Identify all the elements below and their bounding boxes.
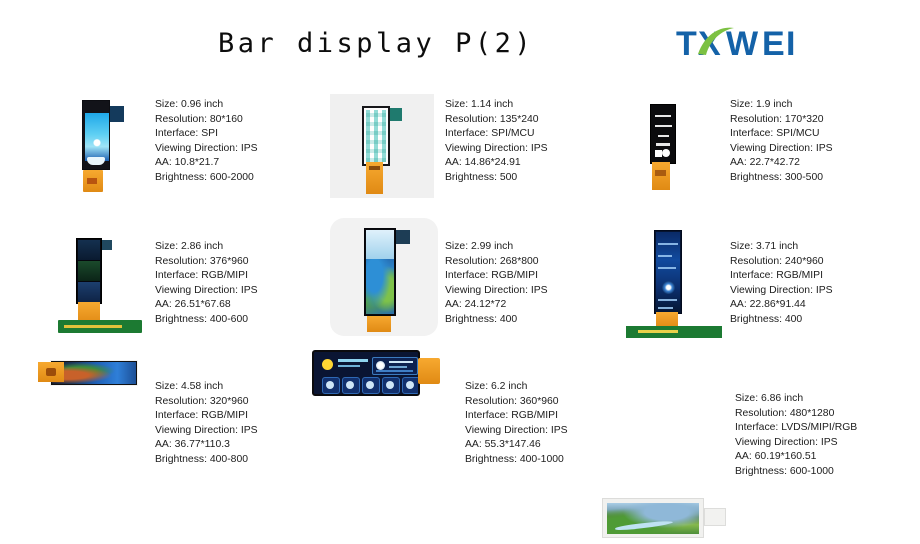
product-specs-7: Size: 4.58 inch Resolution: 320*960 Inte… xyxy=(155,380,258,468)
product-image-4 xyxy=(52,224,152,342)
spec-resolution-4: Resolution: 376*960 xyxy=(155,255,258,270)
product-grid: Size: 0.96 inch Resolution: 80*160 Inter… xyxy=(0,88,920,517)
screen-row-b xyxy=(658,255,672,257)
spec-size-2: Size: 1.14 inch xyxy=(445,98,548,113)
product-specs-1: Size: 0.96 inch Resolution: 80*160 Inter… xyxy=(155,98,258,186)
spec-brightness-9: Brightness: 600-1000 xyxy=(735,465,857,480)
spec-size-9: Size: 6.86 inch xyxy=(735,392,857,407)
spec-aa-5: AA: 24.12*72 xyxy=(445,298,548,313)
display-screen-2 xyxy=(362,106,390,166)
media-player-widget xyxy=(372,357,418,375)
flex-cable-8 xyxy=(418,358,440,384)
spec-viewing-7: Viewing Direction: IPS xyxy=(155,424,258,439)
spec-aa-2: AA: 14.86*24.91 xyxy=(445,156,548,171)
logo-letter-e: E xyxy=(762,25,785,63)
driver-chip-7 xyxy=(46,368,56,376)
spec-size-4: Size: 2.86 inch xyxy=(155,240,258,255)
track-title-text xyxy=(389,361,413,363)
progress-bar xyxy=(376,370,413,372)
driver-chip-1 xyxy=(87,178,97,184)
spec-viewing-8: Viewing Direction: IPS xyxy=(465,424,568,439)
spec-brightness-6: Brightness: 400 xyxy=(730,313,833,328)
product-image-8 xyxy=(300,344,448,404)
screen-square-indicator xyxy=(655,150,662,157)
driver-chip-3 xyxy=(655,170,666,176)
logo-letter-i: I xyxy=(786,25,795,63)
spec-aa-6: AA: 22.86*91.44 xyxy=(730,298,833,313)
spec-brightness-8: Brightness: 400-1000 xyxy=(465,453,568,468)
flex-cable-9 xyxy=(704,508,726,526)
display-tab-2 xyxy=(390,108,402,121)
txwei-logo-svg: T X W E I xyxy=(676,24,836,66)
logo-letter-w: W xyxy=(726,25,759,63)
spec-size-6: Size: 3.71 inch xyxy=(730,240,833,255)
spec-viewing-4: Viewing Direction: IPS xyxy=(155,284,258,299)
spec-resolution-1: Resolution: 80*160 xyxy=(155,113,258,128)
spec-resolution-8: Resolution: 360*960 xyxy=(465,395,568,410)
spec-interface-2: Interface: SPI/MCU xyxy=(445,127,548,142)
product-specs-5: Size: 2.99 inch Resolution: 268*800 Inte… xyxy=(445,240,548,328)
spec-viewing-5: Viewing Direction: IPS xyxy=(445,284,548,299)
spec-brightness-3: Brightness: 300-500 xyxy=(730,171,833,186)
spec-interface-9: Interface: LVDS/MIPI/RGB xyxy=(735,421,857,436)
spec-viewing-3: Viewing Direction: IPS xyxy=(730,142,833,157)
spec-viewing-1: Viewing Direction: IPS xyxy=(155,142,258,157)
spec-brightness-1: Brightness: 600-2000 xyxy=(155,171,258,186)
screen-text-line-b xyxy=(655,125,672,127)
spec-resolution-6: Resolution: 240*960 xyxy=(730,255,833,270)
screen-row-d xyxy=(658,299,677,301)
screen-circle-indicator xyxy=(662,149,670,157)
product-specs-3: Size: 1.9 inch Resolution: 170*320 Inter… xyxy=(730,98,833,186)
screen-row-c xyxy=(658,267,676,269)
screen-river-graphic xyxy=(615,519,673,531)
display-tab-1 xyxy=(110,106,124,122)
spec-size-8: Size: 6.2 inch xyxy=(465,380,568,395)
txwei-logo: T X W E I xyxy=(676,24,836,66)
page-title: Bar display P(2) xyxy=(218,28,534,59)
screen-row-a xyxy=(658,243,678,245)
product-image-3 xyxy=(624,94,720,198)
product-image-6 xyxy=(622,218,732,338)
product-specs-9: Size: 6.86 inch Resolution: 480*1280 Int… xyxy=(735,392,857,480)
screen-text-line-d xyxy=(656,143,670,146)
display-screen-5 xyxy=(364,228,396,316)
display-screen-3 xyxy=(650,104,676,164)
spec-viewing-9: Viewing Direction: IPS xyxy=(735,436,857,451)
spec-resolution-5: Resolution: 268*800 xyxy=(445,255,548,270)
spec-brightness-5: Brightness: 400 xyxy=(445,313,548,328)
product-image-1 xyxy=(60,96,144,198)
spec-interface-6: Interface: RGB/MIPI xyxy=(730,269,833,284)
spec-brightness-7: Brightness: 400-800 xyxy=(155,453,258,468)
screen-disc-icon xyxy=(662,281,675,294)
app-icon-navigation xyxy=(322,377,340,394)
product-image-9 xyxy=(598,494,728,544)
spec-resolution-7: Resolution: 320*960 xyxy=(155,395,258,410)
app-icon-seat xyxy=(362,377,380,394)
display-screen-9 xyxy=(602,498,704,538)
spec-resolution-2: Resolution: 135*240 xyxy=(445,113,548,128)
app-icon-climate xyxy=(382,377,400,394)
display-tab-4 xyxy=(102,240,112,250)
spec-aa-8: AA: 55.3*147.46 xyxy=(465,438,568,453)
spec-size-7: Size: 4.58 inch xyxy=(155,380,258,395)
screen-segment-c xyxy=(78,282,100,303)
display-screen-8 xyxy=(312,350,420,396)
screen-segment-b xyxy=(78,261,100,281)
screen-content-9 xyxy=(607,503,699,534)
pcb-connector-6 xyxy=(638,330,678,333)
spec-viewing-2: Viewing Direction: IPS xyxy=(445,142,548,157)
product-image-2 xyxy=(330,94,434,198)
screen-segment-a xyxy=(78,240,100,260)
page-header: Bar display P(2) T X W E I xyxy=(0,0,920,88)
spec-interface-7: Interface: RGB/MIPI xyxy=(155,409,258,424)
screen-content-7 xyxy=(52,362,136,384)
display-screen-1 xyxy=(82,100,110,170)
spec-size-3: Size: 1.9 inch xyxy=(730,98,833,113)
display-screen-4 xyxy=(76,238,102,304)
screen-content-5 xyxy=(366,259,394,314)
screen-content-2 xyxy=(366,110,386,162)
spec-brightness-2: Brightness: 500 xyxy=(445,171,548,186)
spec-aa-9: AA: 60.19*160.51 xyxy=(735,450,857,465)
spec-size-1: Size: 0.96 inch xyxy=(155,98,258,113)
pcb-connector-4 xyxy=(64,325,122,328)
spec-size-5: Size: 2.99 inch xyxy=(445,240,548,255)
display-tab-5 xyxy=(396,230,410,244)
weather-sun-icon xyxy=(322,359,333,370)
product-image-7 xyxy=(24,346,142,402)
spec-interface-3: Interface: SPI/MCU xyxy=(730,127,833,142)
screen-text-line-c xyxy=(658,135,669,137)
weather-temp-text xyxy=(338,359,368,362)
product-specs-2: Size: 1.14 inch Resolution: 135*240 Inte… xyxy=(445,98,548,186)
screen-text-line-a xyxy=(655,115,671,117)
screen-row-e xyxy=(658,307,673,309)
product-image-5 xyxy=(330,218,438,336)
product-specs-4: Size: 2.86 inch Resolution: 376*960 Inte… xyxy=(155,240,258,328)
spec-interface-1: Interface: SPI xyxy=(155,127,258,142)
app-icon-music xyxy=(342,377,360,394)
product-specs-6: Size: 3.71 inch Resolution: 240*960 Inte… xyxy=(730,240,833,328)
display-screen-6 xyxy=(654,230,682,314)
spec-interface-4: Interface: RGB/MIPI xyxy=(155,269,258,284)
screen-graphic-1 xyxy=(87,157,105,165)
spec-resolution-3: Resolution: 170*320 xyxy=(730,113,833,128)
weather-sub-text xyxy=(338,365,360,367)
spec-aa-1: AA: 10.8*21.7 xyxy=(155,156,258,171)
driver-chip-2 xyxy=(369,166,380,170)
spec-interface-5: Interface: RGB/MIPI xyxy=(445,269,548,284)
spec-aa-4: AA: 26.51*67.68 xyxy=(155,298,258,313)
spec-resolution-9: Resolution: 480*1280 xyxy=(735,407,857,422)
spec-viewing-6: Viewing Direction: IPS xyxy=(730,284,833,299)
spec-aa-7: AA: 36.77*110.3 xyxy=(155,438,258,453)
spec-aa-3: AA: 22.7*42.72 xyxy=(730,156,833,171)
track-artist-text xyxy=(389,366,407,368)
screen-content-1 xyxy=(85,113,109,161)
product-specs-8: Size: 6.2 inch Resolution: 360*960 Inter… xyxy=(465,380,568,468)
spec-brightness-4: Brightness: 400-600 xyxy=(155,313,258,328)
flex-cable-5 xyxy=(367,316,391,332)
logo-letter-t: T xyxy=(676,25,697,63)
flex-cable-3 xyxy=(652,162,670,190)
spec-interface-8: Interface: RGB/MIPI xyxy=(465,409,568,424)
album-art-icon xyxy=(376,361,385,370)
